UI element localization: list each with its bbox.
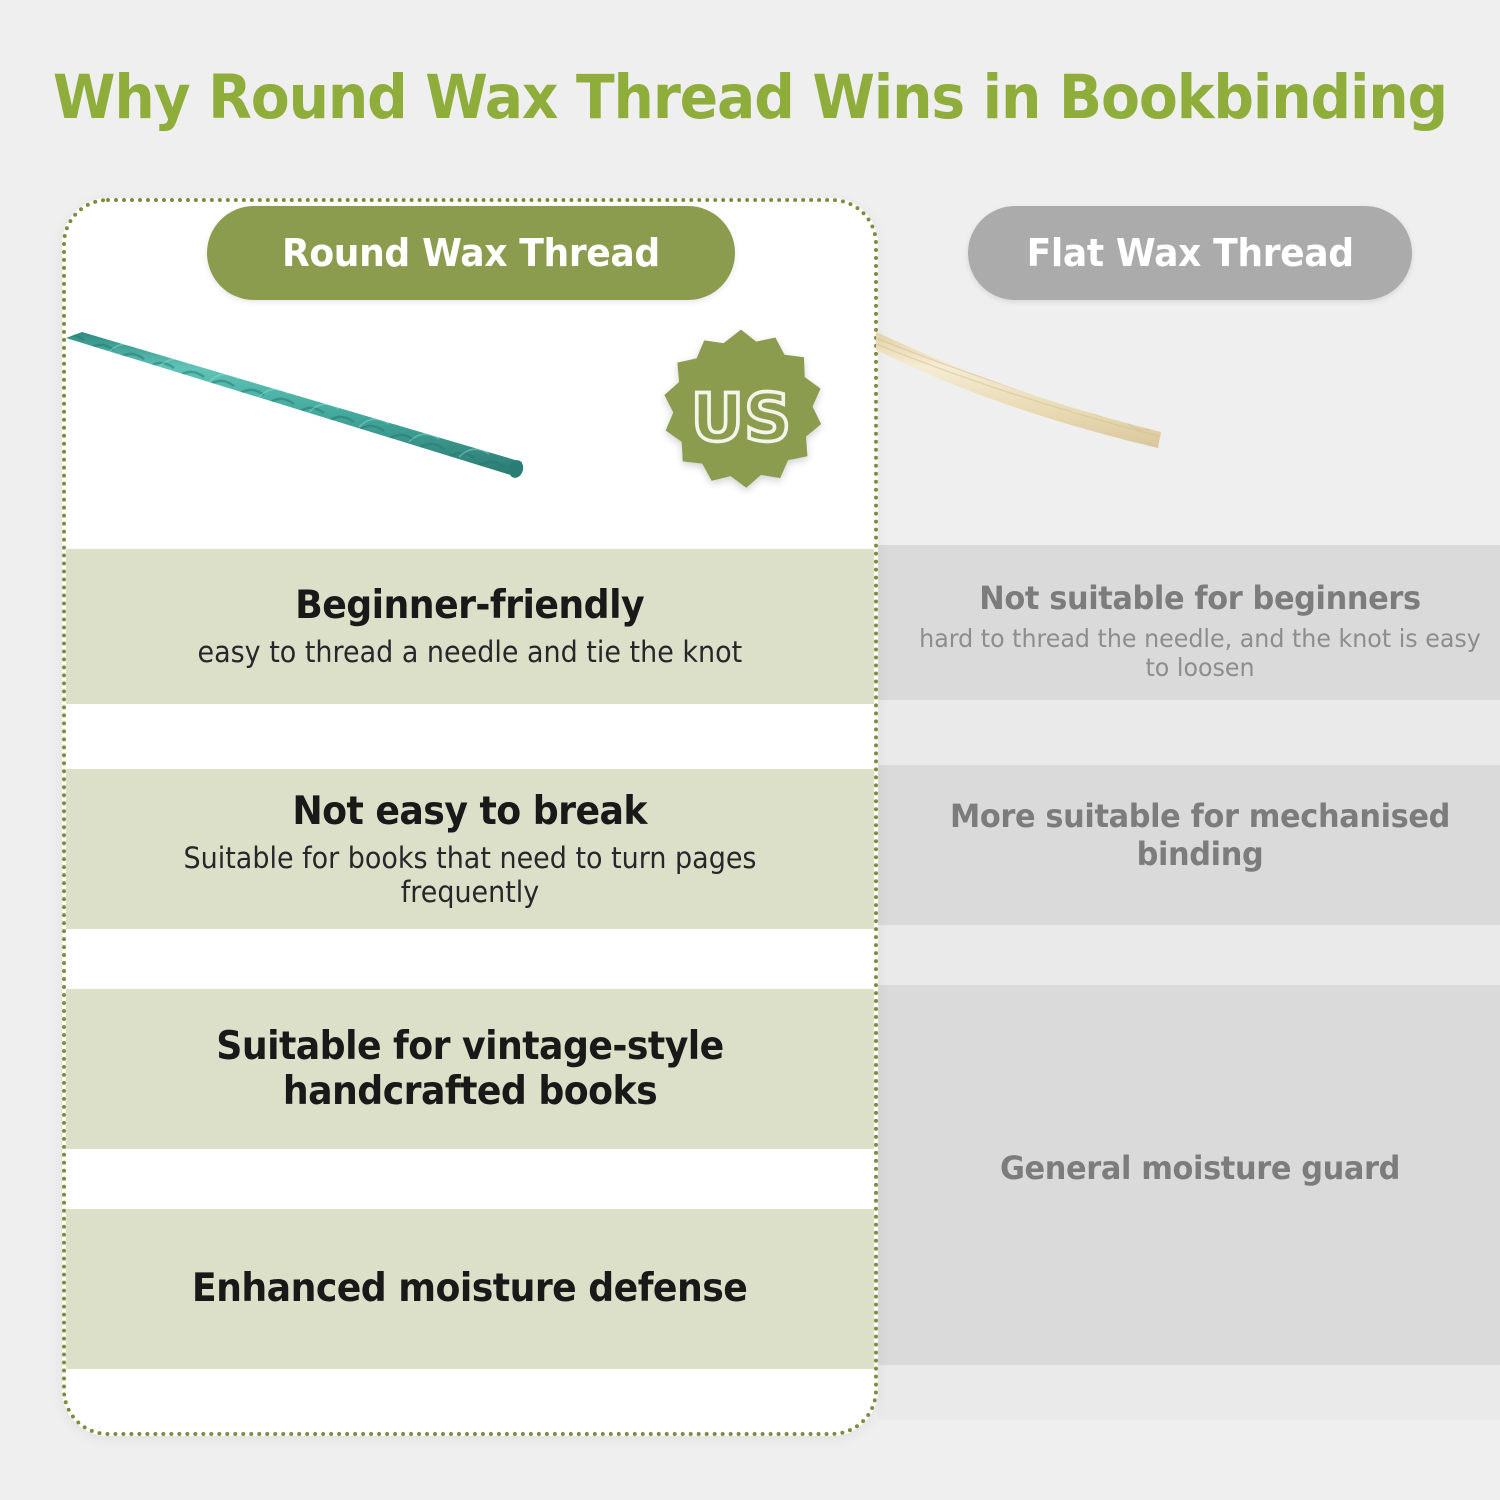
flat-wax-thread-pill-label: Flat Wax Thread [1026, 231, 1353, 275]
flat-row-1-sub: hard to thread the needle, and the knot … [915, 624, 1485, 682]
round-row-1-band: Beginner-friendly easy to thread a needl… [66, 549, 874, 704]
round-row-3-heading: Suitable for vintage-style handcrafted b… [115, 1024, 826, 1114]
round-wax-thread-pill[interactable]: Round Wax Thread [207, 206, 735, 300]
round-row-1-sub: easy to thread a needle and tie the knot [198, 636, 743, 670]
us-badge-label: US [691, 381, 791, 457]
round-row-2-band: Not easy to break Suitable for books tha… [66, 769, 874, 929]
flat-gap-band-1 [878, 700, 1500, 765]
flat-row-1-heading: Not suitable for beginners [915, 580, 1485, 618]
us-badge-icon: US [650, 326, 832, 508]
round-row-4-band: Enhanced moisture defense [66, 1209, 874, 1369]
round-wax-thread-pill-label: Round Wax Thread [282, 231, 660, 275]
flat-row-2-heading: More suitable for mechanised binding [915, 798, 1485, 874]
round-row-1-heading: Beginner-friendly [296, 583, 645, 628]
flat-row-2-text: More suitable for mechanised binding [900, 798, 1500, 874]
flat-wax-thread-pill[interactable]: Flat Wax Thread [968, 206, 1412, 300]
flat-gap-band-2 [878, 925, 1500, 985]
page-title: Why Round Wax Thread Wins in Bookbinding [53, 62, 1448, 133]
round-row-3-band: Suitable for vintage-style handcrafted b… [66, 989, 874, 1149]
flat-bottom-band [878, 1365, 1500, 1420]
flat-row-3-heading: General moisture guard [915, 1150, 1485, 1188]
round-row-2-heading: Not easy to break [293, 789, 648, 834]
infographic-page: Why Round Wax Thread Wins in Bookbinding… [0, 0, 1500, 1500]
flat-thread-column: Not suitable for beginners hard to threa… [878, 180, 1500, 1440]
flat-row-3-text: General moisture guard [900, 1150, 1500, 1188]
flat-row-1-text: Not suitable for beginners hard to threa… [900, 580, 1500, 682]
round-row-2-sub: Suitable for books that need to turn pag… [115, 842, 826, 909]
round-row-4-heading: Enhanced moisture defense [192, 1266, 747, 1311]
